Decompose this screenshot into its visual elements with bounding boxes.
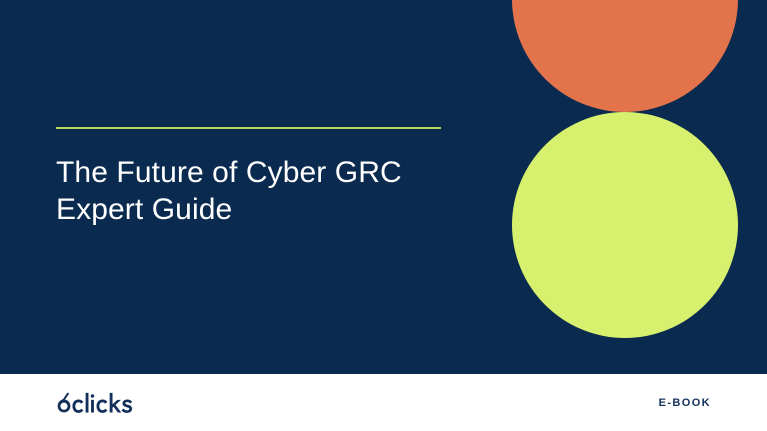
orange-circle-decoration — [512, 0, 738, 112]
green-circle-decoration — [512, 112, 738, 338]
page-title: The Future of Cyber GRC Expert Guide — [56, 154, 486, 228]
accent-rule-divider — [56, 127, 441, 129]
sixclicks-wordmark-icon — [56, 392, 137, 413]
footer-bar: E-BOOK — [0, 374, 767, 431]
hero-block: The Future of Cyber GRC Expert Guide — [56, 127, 486, 228]
ebook-cover-slide: The Future of Cyber GRC Expert Guide — [0, 0, 767, 431]
document-type-label: E-BOOK — [659, 397, 711, 409]
sixclicks-logo[interactable] — [56, 392, 137, 414]
